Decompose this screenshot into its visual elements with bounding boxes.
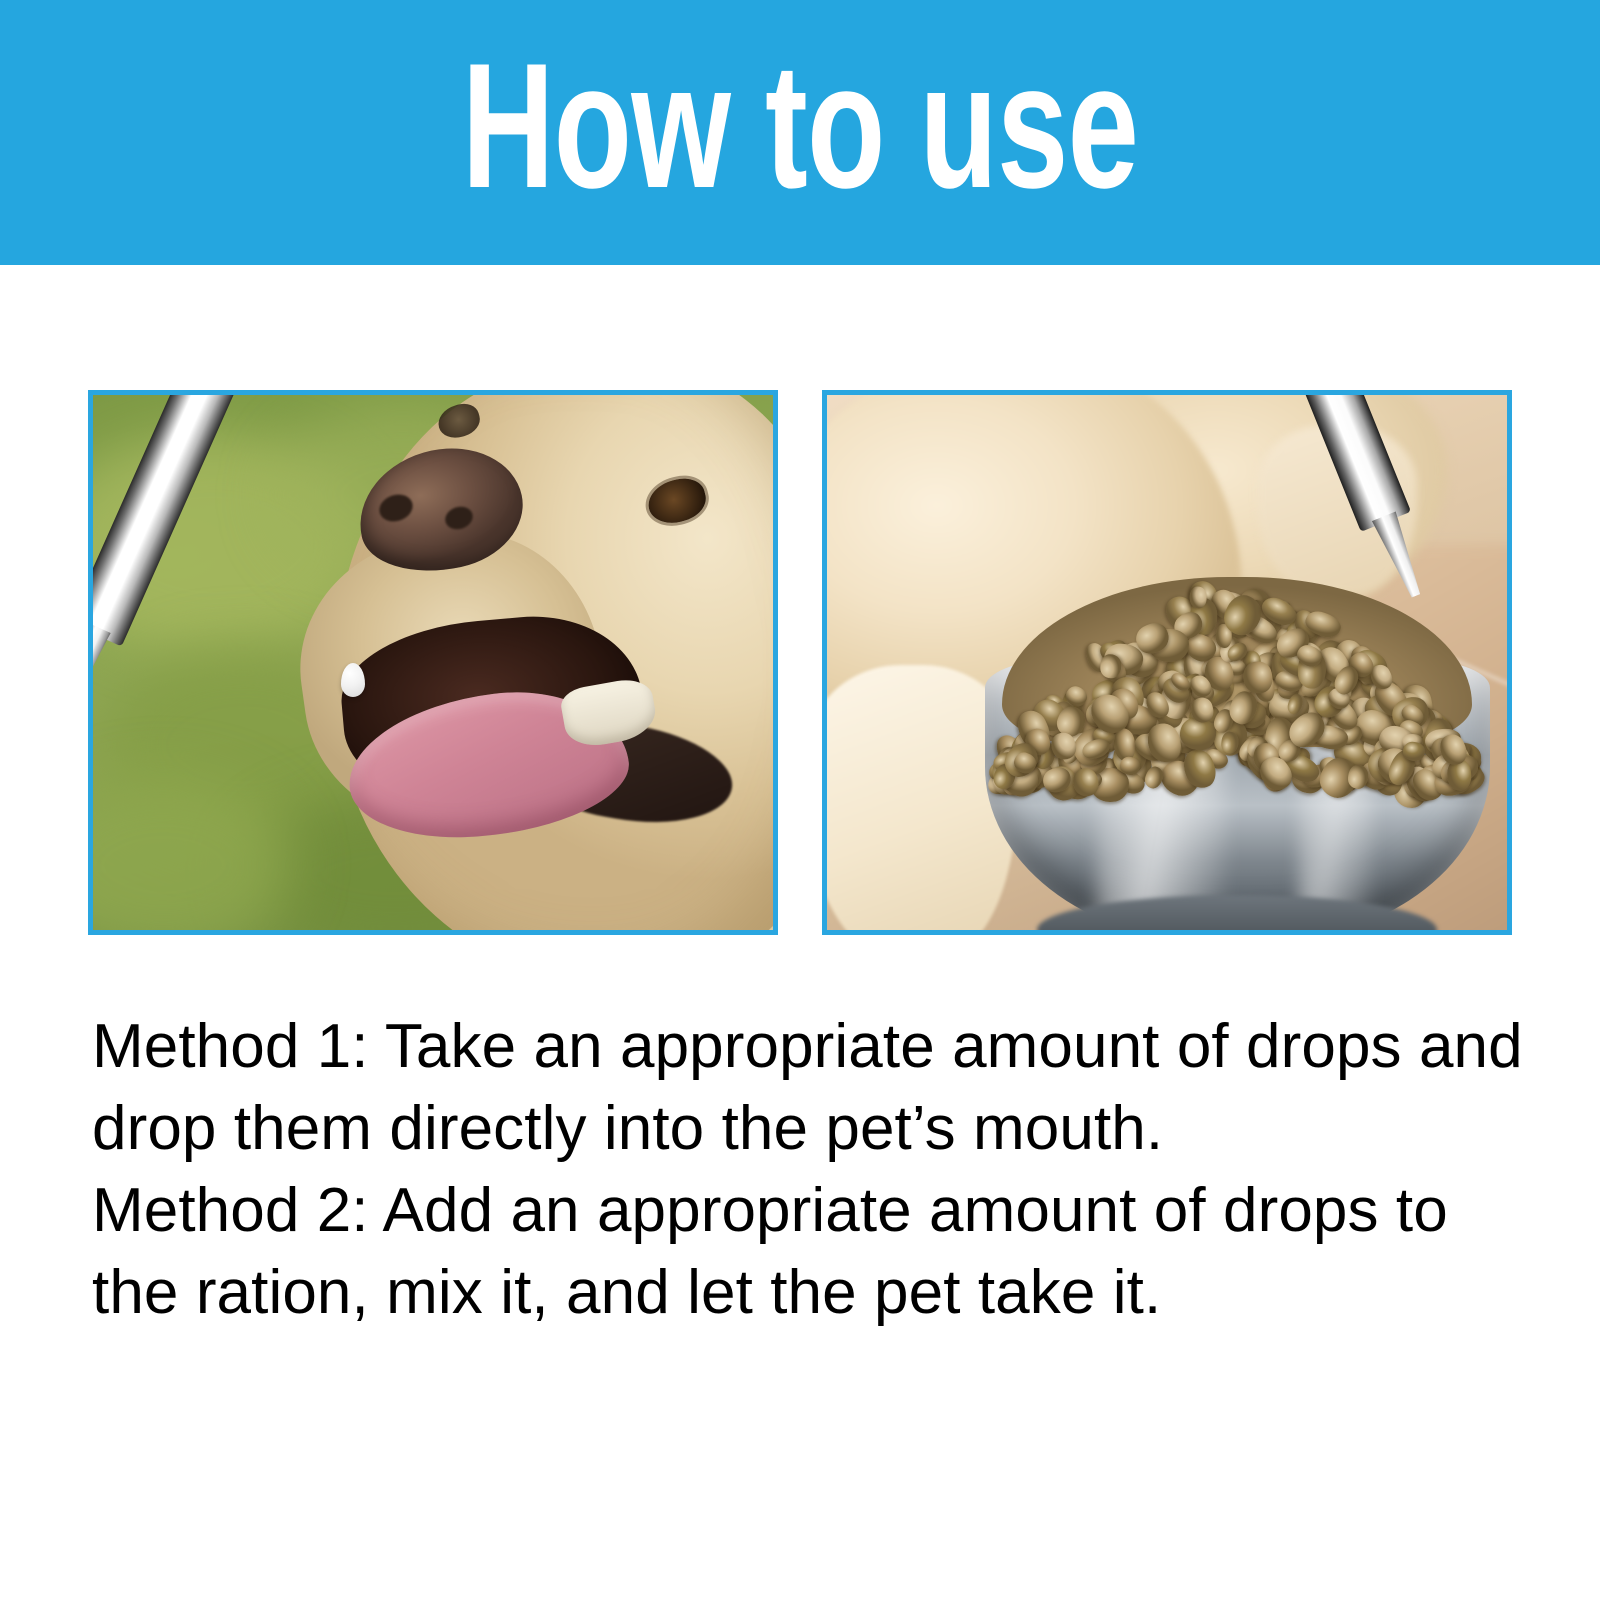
page-title: How to use — [224, 0, 1376, 265]
photo-2-image — [827, 395, 1507, 930]
instruction-method-2: Method 2: Add an appropriate amount of d… — [92, 1170, 1542, 1334]
liquid-drop — [341, 663, 365, 697]
header-banner: How to use — [0, 0, 1600, 265]
photo-1-image — [93, 395, 773, 930]
kibble-piece — [1189, 586, 1207, 609]
photo-dropper-over-food-bowl — [822, 390, 1512, 935]
instruction-method-1: Method 1: Take an appropriate amount of … — [92, 1006, 1542, 1170]
instructions-block: Method 1: Take an appropriate amount of … — [92, 1006, 1542, 1334]
photo-dog-receiving-drops — [88, 390, 778, 935]
instruction-photo-row — [88, 390, 1512, 935]
